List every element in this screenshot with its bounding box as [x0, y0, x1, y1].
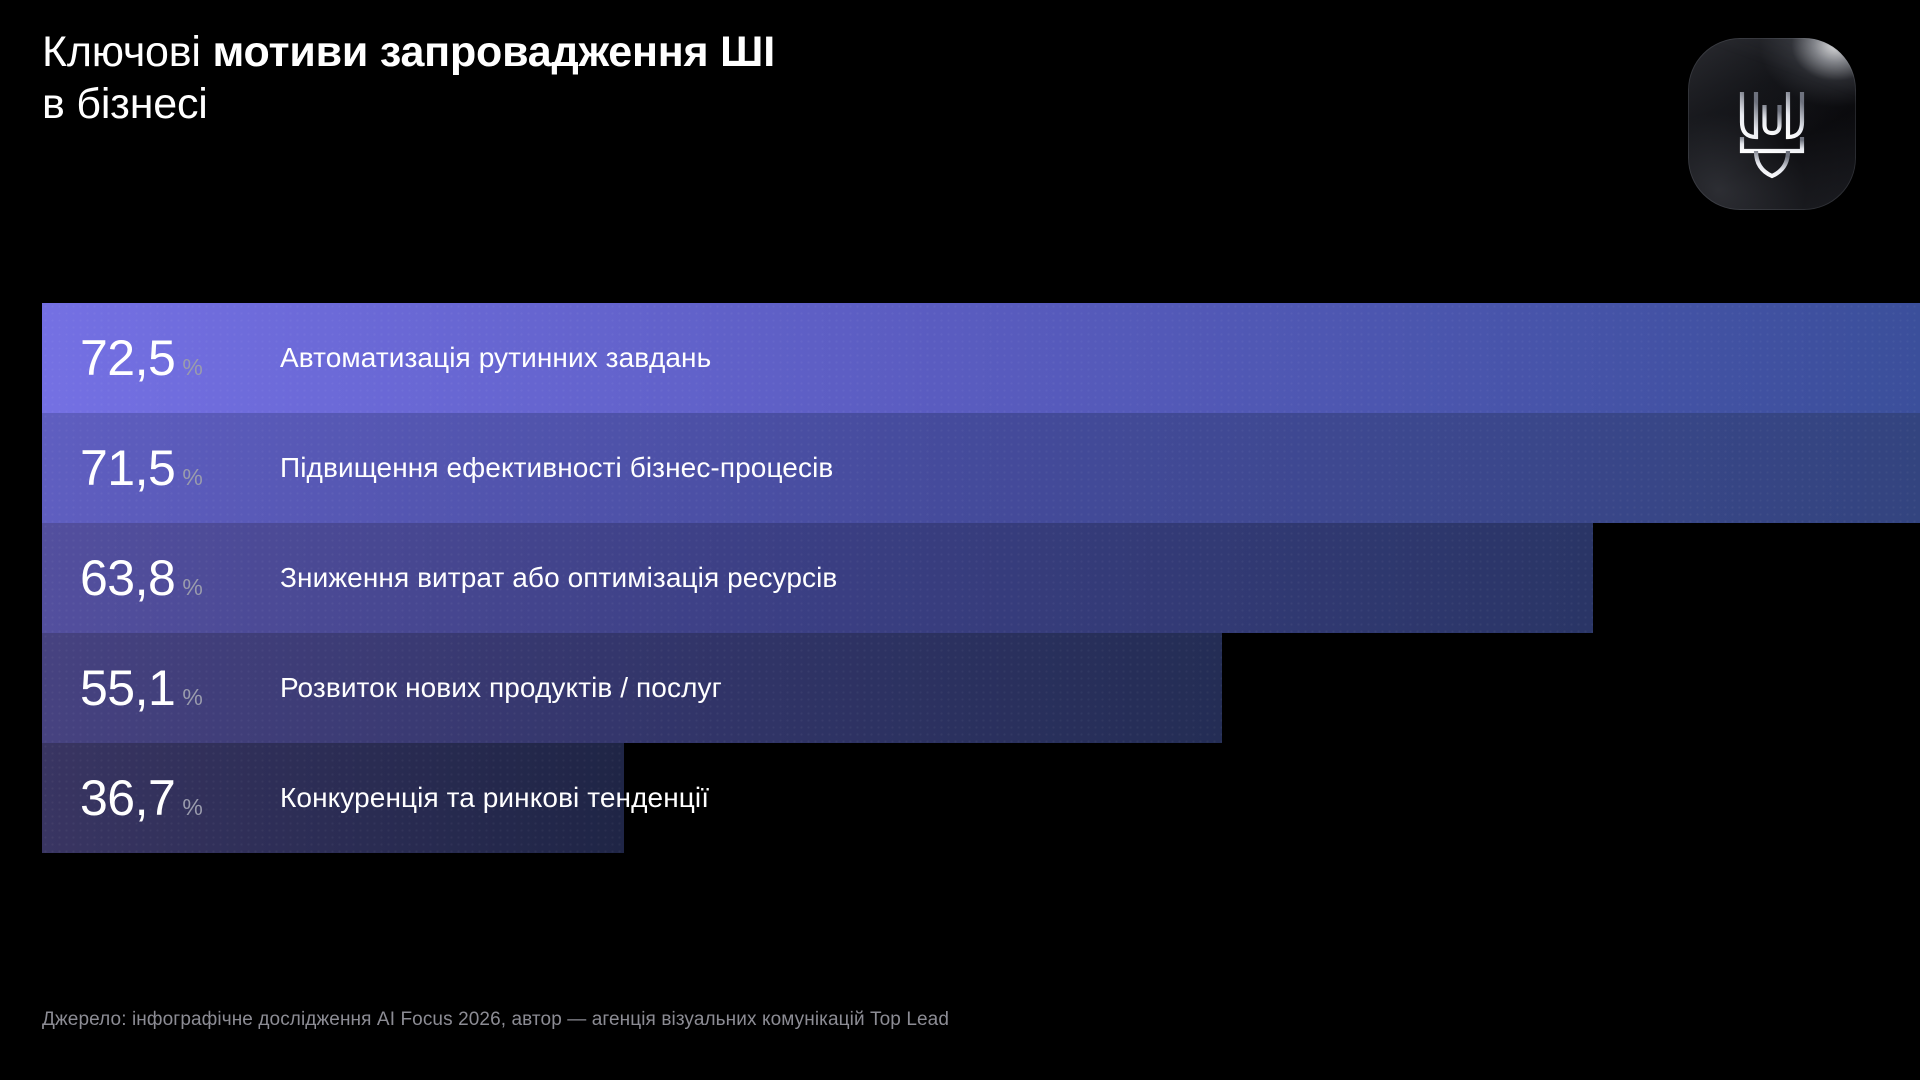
bar-content: 72,5 % Автоматизація рутинних завдань	[42, 303, 1920, 413]
bar-value-number: 71,5	[80, 443, 175, 493]
bar-content: 55,1 % Розвиток нових продуктів / послуг	[42, 633, 1920, 743]
bar-label: Зниження витрат або оптимізація ресурсів	[280, 562, 837, 594]
bar-value-number: 36,7	[80, 773, 175, 823]
bar-value-unit: %	[182, 356, 202, 379]
bar-value: 63,8 %	[80, 553, 280, 603]
bar-value-unit: %	[182, 576, 202, 599]
bar-value-unit: %	[182, 466, 202, 489]
title-bold-part: мотиви запровадження ШІ	[213, 28, 775, 76]
bar-content: 71,5 % Підвищення ефективності бізнес-пр…	[42, 413, 1920, 523]
bar-value-number: 72,5	[80, 333, 175, 383]
bar-row[interactable]: 36,7 % Конкуренція та ринкові тенденції	[42, 743, 1920, 853]
bar-row[interactable]: 71,5 % Підвищення ефективності бізнес-пр…	[42, 413, 1920, 523]
bar-value-unit: %	[182, 686, 202, 709]
bar-chart: 72,5 % Автоматизація рутинних завдань 71…	[42, 303, 1920, 853]
bar-content: 36,7 % Конкуренція та ринкові тенденції	[42, 743, 1920, 853]
source-note: Джерело: інфографічне дослідження AI Foc…	[42, 1009, 949, 1031]
bar-value-number: 63,8	[80, 553, 175, 603]
bar-label: Автоматизація рутинних завдань	[280, 342, 711, 374]
bar-row[interactable]: 55,1 % Розвиток нових продуктів / послуг	[42, 633, 1920, 743]
bar-value-unit: %	[182, 796, 202, 819]
logo-badge	[1688, 38, 1856, 210]
bar-value-number: 55,1	[80, 663, 175, 713]
header: Ключові мотиви запровадження ШІ в бізнес…	[42, 26, 1642, 131]
bar-row[interactable]: 72,5 % Автоматизація рутинних завдань	[42, 303, 1920, 413]
bar-label: Підвищення ефективності бізнес-процесів	[280, 452, 833, 484]
page-title: Ключові мотиви запровадження ШІ в бізнес…	[42, 26, 1292, 131]
title-light-part: Ключові	[42, 28, 213, 76]
title-second-line: в бізнесі	[42, 80, 208, 128]
bar-value: 72,5 %	[80, 333, 280, 383]
bar-value: 36,7 %	[80, 773, 280, 823]
bar-value: 71,5 %	[80, 443, 280, 493]
ukraine-trident-icon	[1730, 75, 1814, 179]
bar-row[interactable]: 63,8 % Зниження витрат або оптимізація р…	[42, 523, 1920, 633]
bar-content: 63,8 % Зниження витрат або оптимізація р…	[42, 523, 1920, 633]
bar-value: 55,1 %	[80, 663, 280, 713]
bar-label: Розвиток нових продуктів / послуг	[280, 672, 722, 704]
bar-label: Конкуренція та ринкові тенденції	[280, 782, 709, 814]
